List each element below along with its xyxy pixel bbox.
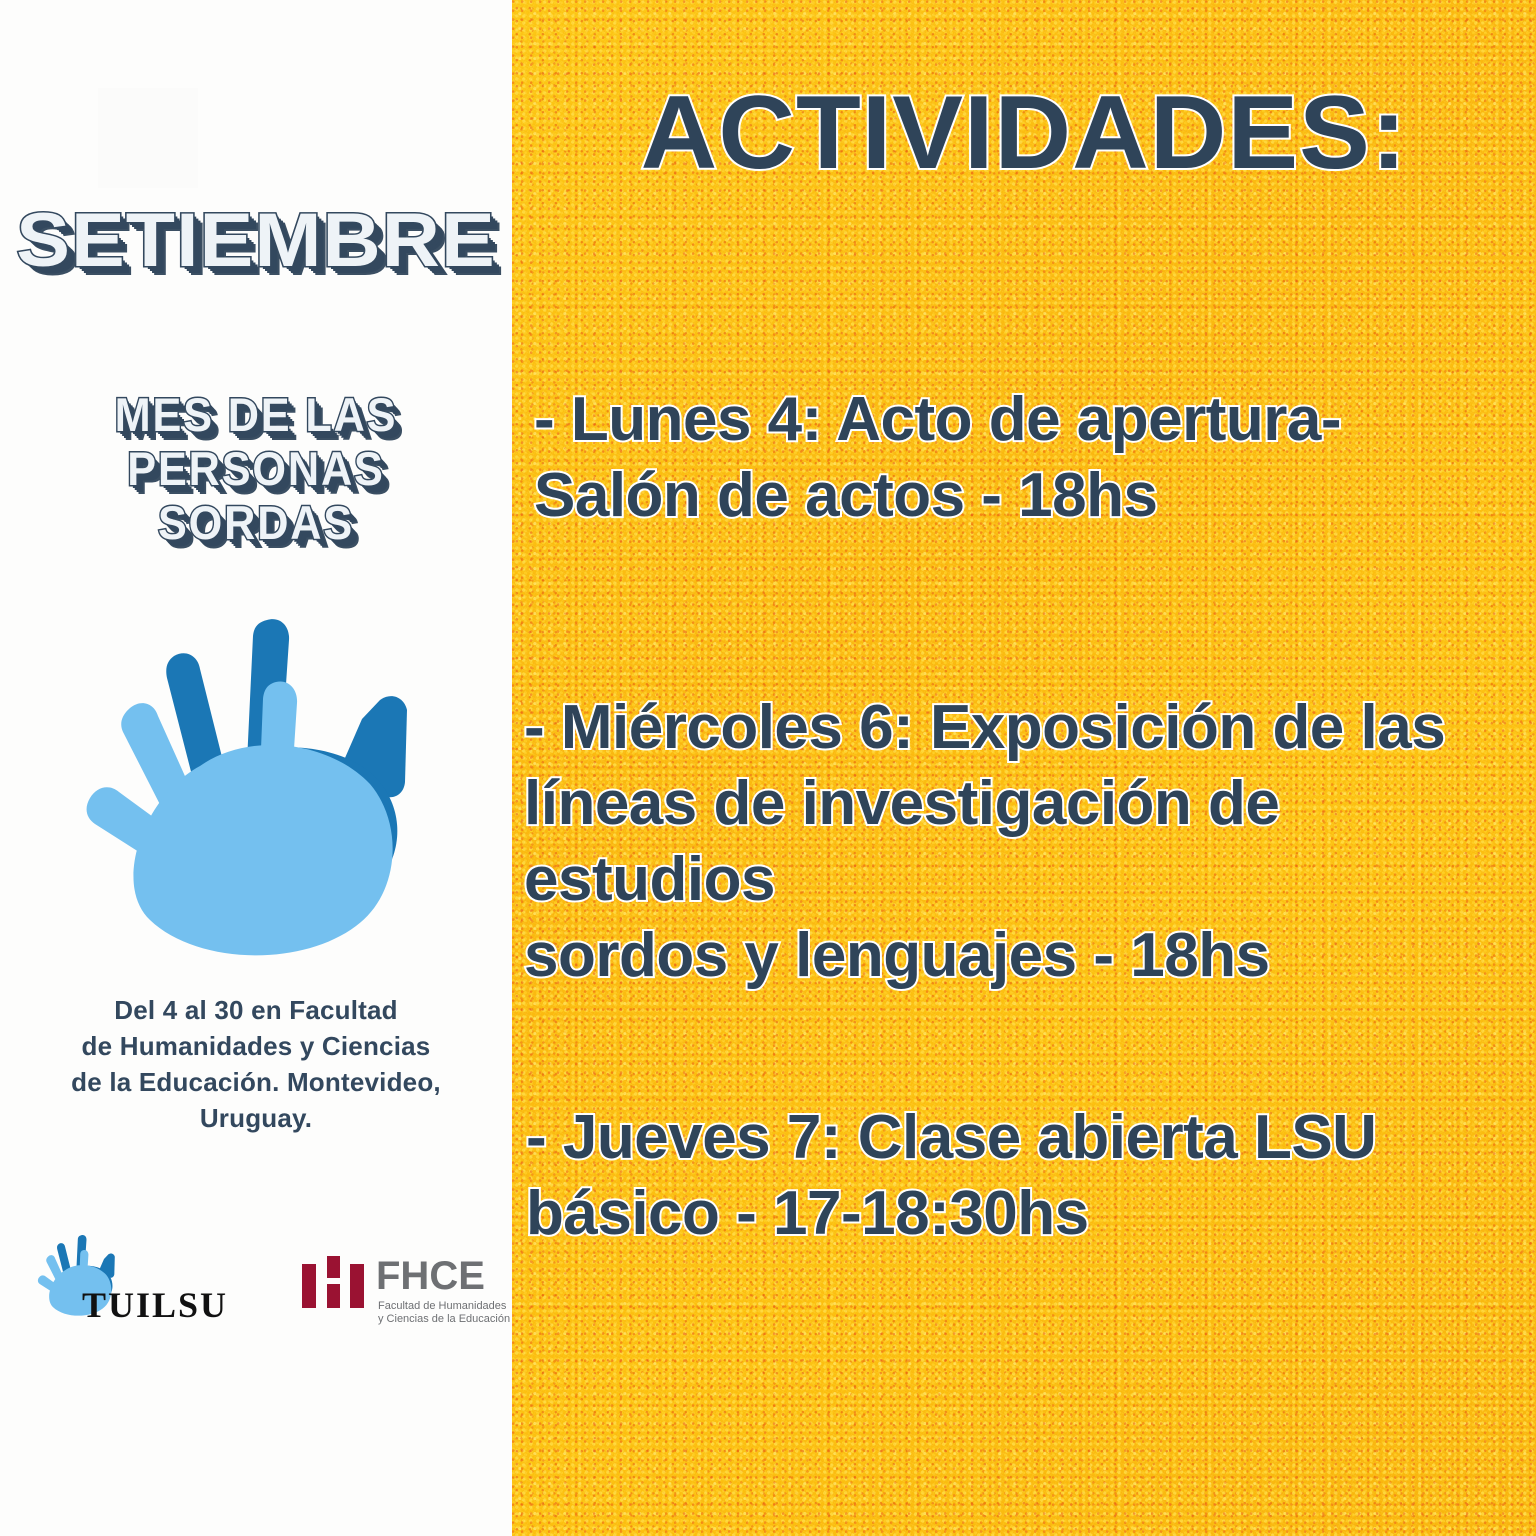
activity-line: Salón de actos - 18hs xyxy=(534,458,1524,534)
location-line-3: de la Educación. Montevideo, xyxy=(40,1064,472,1100)
activity-line: básico - 17-18:30hs xyxy=(526,1176,1516,1252)
fhce-wordmark: FHCE xyxy=(376,1256,485,1296)
activity-line: sordos y lenguajes - 18hs xyxy=(524,918,1536,994)
subtitle-line-2: PERSONAS xyxy=(20,442,491,496)
left-panel: SETIEMBRE MES DE LAS PERSONAS SORDAS xyxy=(0,0,512,1536)
fhce-h-monogram-icon xyxy=(300,1256,366,1318)
activity-line: - Miércoles 6: Exposición de las xyxy=(524,690,1536,766)
right-panel: ACTIVIDADES: - Lunes 4: Acto de apertura… xyxy=(512,0,1536,1536)
fhce-subtitle: Facultad de Humanidades y Ciencias de la… xyxy=(378,1300,512,1326)
fhce-subtitle-line-2: y Ciencias de la Educación xyxy=(378,1313,512,1326)
activity-item: - Miércoles 6: Exposición de las líneas … xyxy=(524,690,1536,994)
activity-line: - Lunes 4: Acto de apertura- xyxy=(534,382,1524,458)
activity-item: - Lunes 4: Acto de apertura- Salón de ac… xyxy=(534,382,1524,534)
location-line-4: Uruguay. xyxy=(40,1100,472,1136)
activity-line: - Jueves 7: Clase abierta LSU xyxy=(526,1100,1516,1176)
fhce-subtitle-line-1: Facultad de Humanidades xyxy=(378,1300,512,1313)
subtitle-line-1: MES DE LAS xyxy=(20,388,491,442)
location-line-2: de Humanidades y Ciencias xyxy=(40,1028,472,1064)
subtitle-line-3: SORDAS xyxy=(20,496,491,550)
decorative-block xyxy=(98,88,198,188)
activity-line: líneas de investigación de estudios xyxy=(524,766,1536,918)
logos-row: TUILSU FHCE Facultad de Humanidades y Ci… xyxy=(0,1228,512,1368)
poster-root: SETIEMBRE MES DE LAS PERSONAS SORDAS xyxy=(0,0,1536,1536)
location-line-1: Del 4 al 30 en Facultad xyxy=(40,992,472,1028)
location-text: Del 4 al 30 en Facultad de Humanidades y… xyxy=(40,992,472,1136)
open-hand-icon xyxy=(62,600,462,980)
fhce-logo: FHCE Facultad de Humanidades y Ciencias … xyxy=(300,1250,505,1342)
tuilsu-wordmark: TUILSU xyxy=(82,1284,228,1326)
subtitle: MES DE LAS PERSONAS SORDAS xyxy=(20,388,491,550)
activities-heading: ACTIVIDADES: xyxy=(512,72,1536,194)
activity-item: - Jueves 7: Clase abierta LSU básico - 1… xyxy=(526,1100,1516,1252)
page-title: SETIEMBRE xyxy=(0,198,512,284)
tuilsu-logo: TUILSU xyxy=(32,1228,242,1338)
